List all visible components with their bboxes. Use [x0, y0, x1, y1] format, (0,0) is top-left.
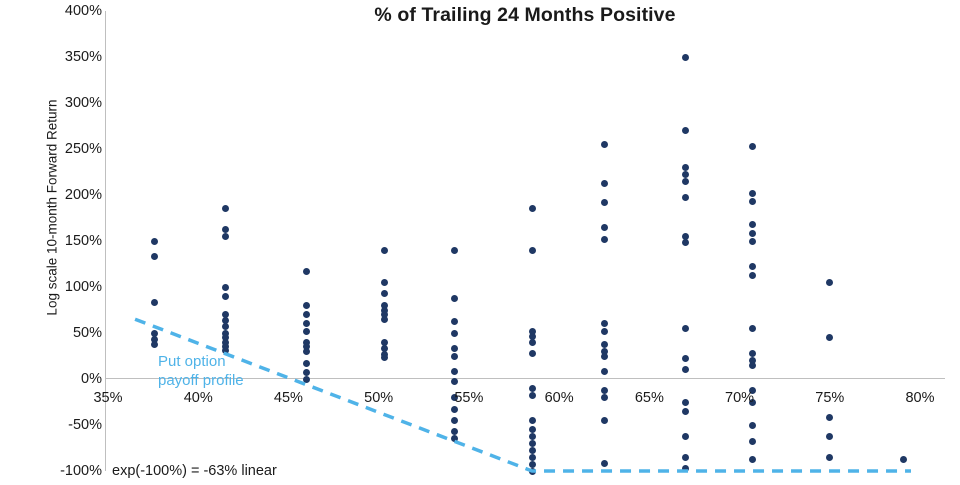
put-option-payoff-line [0, 0, 960, 485]
log-scale-footnote: exp(-100%) = -63% linear [112, 463, 277, 479]
x-axis-tick-label: 55% [454, 390, 483, 406]
put-option-payoff-label: Put option payoff profile [158, 352, 244, 390]
x-axis-tick-label: 35% [93, 390, 122, 406]
x-axis-tick-label: 60% [545, 390, 574, 406]
x-axis-tick-label: 65% [635, 390, 664, 406]
x-axis-tick-label: 75% [815, 390, 844, 406]
x-axis-tick-label: 50% [364, 390, 393, 406]
x-axis-tick-label: 40% [184, 390, 213, 406]
x-axis-tick-label: 70% [725, 390, 754, 406]
scatter-chart: % of Trailing 24 Months Positive Log sca… [0, 0, 960, 485]
x-axis-tick-label: 45% [274, 390, 303, 406]
x-axis-tick-label: 80% [905, 390, 934, 406]
